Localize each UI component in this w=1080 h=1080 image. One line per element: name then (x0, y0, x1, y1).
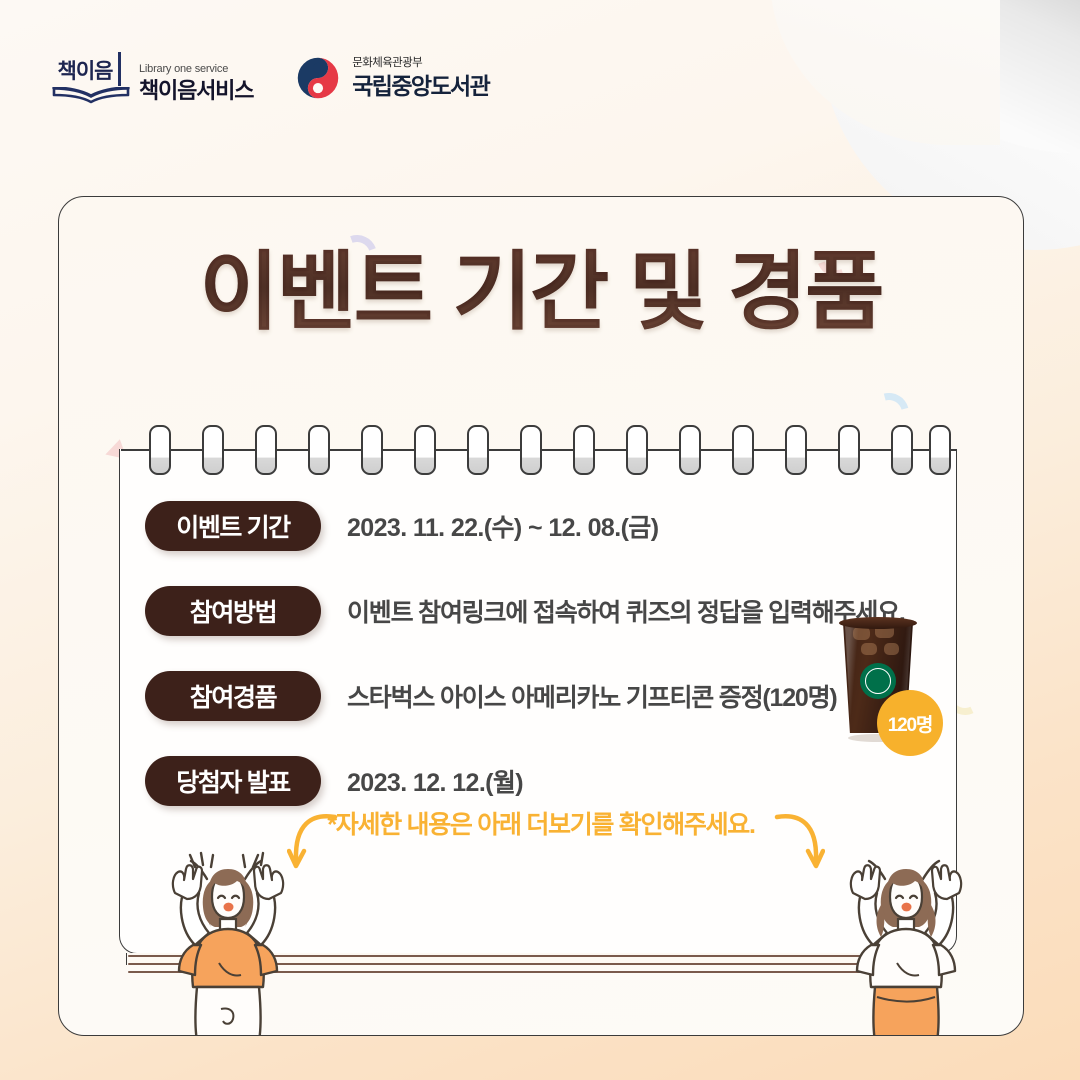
event-card: 이벤트 기간 및 경품 (58, 196, 1024, 1036)
row-value-prize: 스타벅스 아이스 아메리카노 기프티콘 증정(120명) (347, 678, 837, 714)
starbucks-logo-icon (860, 663, 896, 699)
header-logos: 책이음 Library one service 책이음서비스 문화체육관광부 (52, 52, 489, 104)
open-book-icon (52, 87, 130, 104)
note-text: *자세한 내용은 아래 더보기를 확인해주세요. (59, 805, 1023, 841)
chaekium-book-icon: 책이음 (52, 52, 130, 104)
chaekium-kor-name: 책이음서비스 (139, 80, 253, 102)
government-logo: 문화체육관광부 국립중앙도서관 (295, 55, 489, 101)
row-label-prize: 참여경품 (145, 671, 321, 721)
table-row: 이벤트 기간 2023. 11. 22.(수) ~ 12. 08.(금) (145, 483, 935, 568)
table-row: 참여경품 스타벅스 아이스 아메리카노 기프티콘 증정(120명) (145, 653, 935, 738)
cheering-woman-right-illustration (811, 845, 1001, 1036)
row-value-announcement: 2023. 12. 12.(월) (347, 763, 523, 799)
row-label-announcement: 당첨자 발표 (145, 756, 321, 806)
government-department: 문화체육관광부 (352, 58, 489, 70)
chaekium-logo: 책이음 Library one service 책이음서비스 (52, 52, 253, 104)
chaekium-mark-label: 책이음 (52, 55, 118, 85)
row-value-method: 이벤트 참여링크에 접속하여 퀴즈의 정답을 입력해주세요. (347, 593, 905, 629)
row-value-period: 2023. 11. 22.(수) ~ 12. 08.(금) (347, 508, 658, 544)
poster-root: 책이음 Library one service 책이음서비스 문화체육관광부 (0, 0, 1080, 1080)
notepad-spiral-rings (119, 425, 957, 471)
row-label-period: 이벤트 기간 (145, 501, 321, 551)
taegeuk-emblem-icon (295, 55, 341, 101)
cheering-woman-left-illustration (133, 845, 323, 1036)
row-label-method: 참여방법 (145, 586, 321, 636)
government-organization: 국립중앙도서관 (352, 75, 489, 98)
chaekium-eng-tagline: Library one service (139, 64, 253, 75)
table-row: 참여방법 이벤트 참여링크에 접속하여 퀴즈의 정답을 입력해주세요. (145, 568, 935, 653)
event-detail-rows: 이벤트 기간 2023. 11. 22.(수) ~ 12. 08.(금) 참여방… (145, 483, 935, 823)
page-title: 이벤트 기간 및 경품 (59, 249, 1023, 335)
